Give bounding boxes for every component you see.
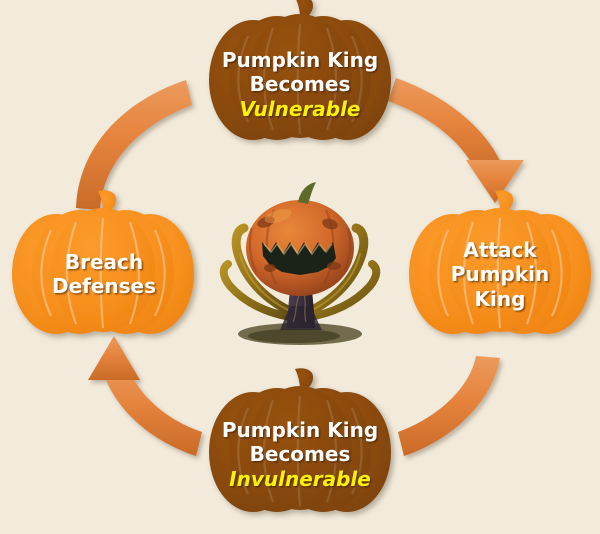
- node-breach-defenses[interactable]: [12, 190, 194, 334]
- pumpkin-king-creature-image: [224, 182, 377, 345]
- arrow-top-to-right: [388, 78, 524, 203]
- cycle-diagram: [0, 0, 600, 534]
- node-pumpkin-king-invulnerable[interactable]: [209, 368, 391, 512]
- arrow-right-to-bottom: [398, 356, 500, 456]
- arrow-left-to-top: [76, 80, 192, 210]
- node-pumpkin-king-vulnerable[interactable]: [209, 0, 391, 140]
- diagram-canvas: Pumpkin King Becomes Vulnerable Attack P…: [0, 0, 600, 534]
- arrow-bottom-to-left: [88, 336, 202, 456]
- node-attack-pumpkin-king[interactable]: [409, 190, 591, 334]
